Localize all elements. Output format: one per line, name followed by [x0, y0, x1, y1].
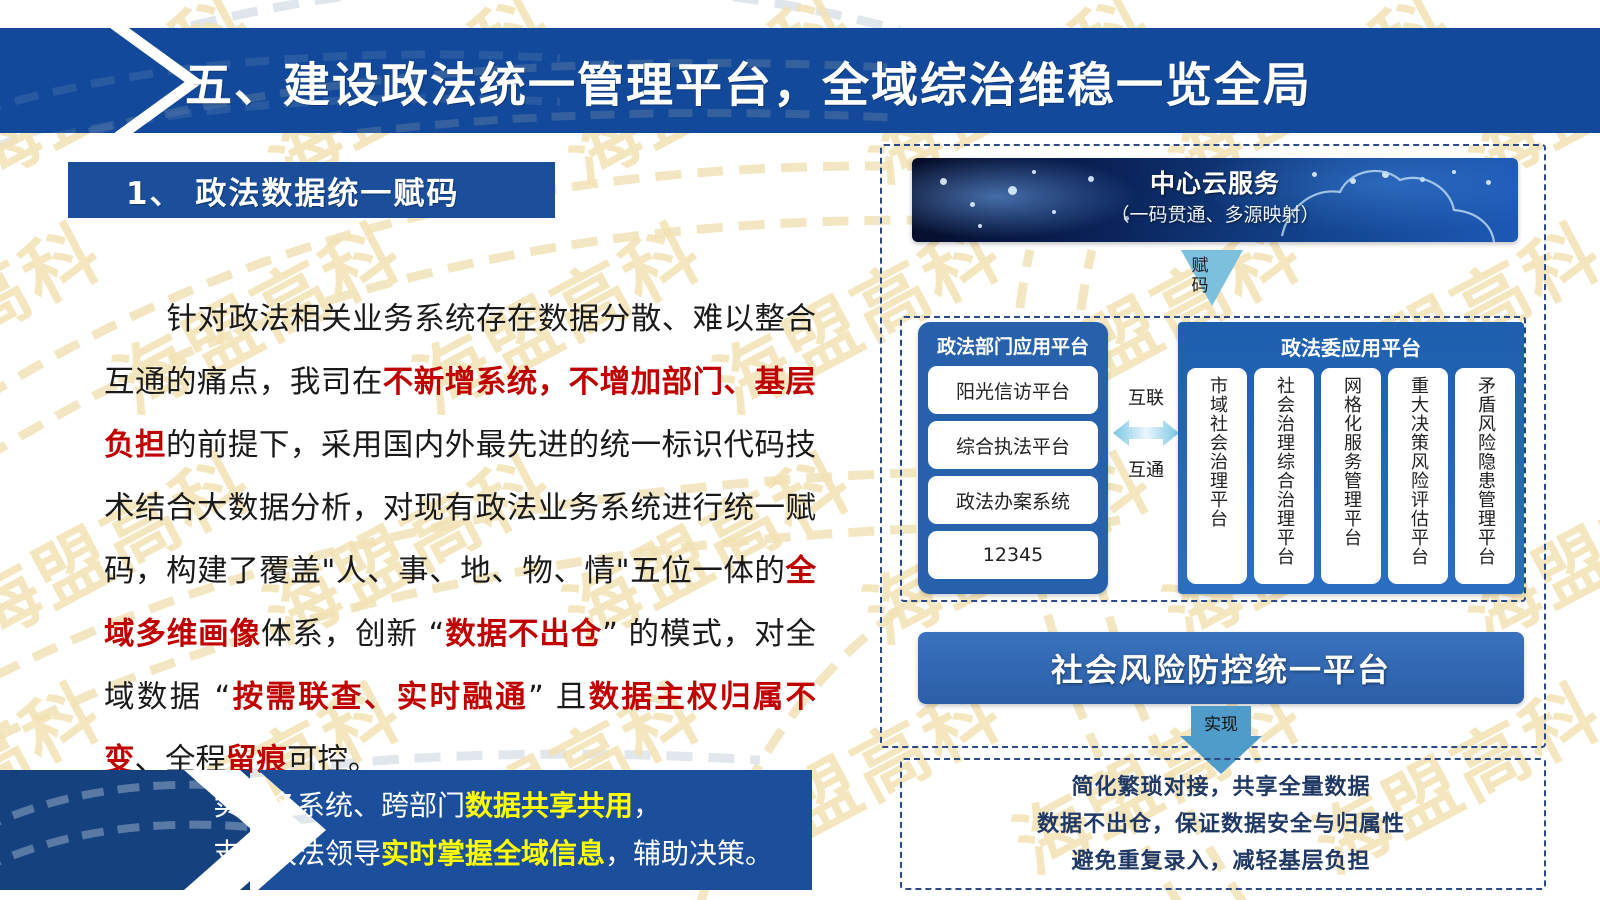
interlink-label-top: 互联 — [1112, 384, 1180, 410]
conclusion-line1-highlight: 数据共享共用 — [465, 789, 633, 822]
wei-platform-column-label: 网格化服务管理平台 — [1338, 376, 1364, 547]
wei-platform-column-label: 矛盾风险隐患管理平台 — [1472, 376, 1498, 566]
dept-platform-item[interactable]: 综合执法平台 — [928, 421, 1098, 469]
paragraph-segment: ” 且 — [528, 680, 589, 715]
arrow-label-shixian: 实现 — [1180, 710, 1262, 735]
paragraph-text: 针对政法相关业务系统存在数据分散、难以整合互通的痛点，我司在不新增系统，不增加部… — [104, 302, 816, 778]
wei-platform-column-label: 市域社会治理平台 — [1204, 376, 1230, 528]
conclusion-line1-prefix: 实现多系统、跨部门 — [213, 789, 465, 822]
paragraph-segment: 的前提下，采用国内外最先进的统一标识代码技术结合大数据分析，对现有政法业务系统进… — [104, 428, 816, 589]
paragraph-segment: 体系，创新 “ — [261, 617, 444, 652]
benefits-list: 简化繁琐对接，共享全量数据数据不出仓，保证数据安全与归属性避免重复录入，减轻基层… — [900, 766, 1542, 882]
dept-panel-list: 阳光信访平台综合执法平台政法办案系统12345 — [928, 366, 1098, 586]
wei-platform-column-label: 社会治理综合治理平台 — [1271, 376, 1297, 566]
wei-panel-title: 政法委应用平台 — [1178, 332, 1524, 361]
conclusion-text: 实现多系统、跨部门数据共享共用， 支撑政法领导实时掌握全域信息，辅助决策。 — [213, 782, 773, 878]
dept-panel-title: 政法部门应用平台 — [918, 332, 1108, 359]
dept-platform-item[interactable]: 12345 — [928, 531, 1098, 579]
wei-platform-column[interactable]: 网格化服务管理平台 — [1321, 368, 1381, 584]
paragraph-segment: 按需联查、实时融通 — [230, 680, 528, 715]
benefit-line: 数据不出仓，保证数据安全与归属性 — [1037, 806, 1405, 843]
wei-platform-column[interactable]: 重大决策风险评估平台 — [1388, 368, 1448, 584]
conclusion-banner: 实现多系统、跨部门数据共享共用， 支撑政法领导实时掌握全域信息，辅助决策。 — [0, 770, 812, 890]
unified-risk-platform-label: 社会风险防控统一平台 — [1051, 645, 1391, 691]
watermark-text: 海盟高科 — [0, 193, 119, 434]
wei-application-panel: 政法委应用平台 市域社会治理平台社会治理综合治理平台网格化服务管理平台重大决策风… — [1178, 322, 1524, 594]
conclusion-line2-prefix: 支撑政法领导 — [213, 837, 381, 870]
page-title: 五、建设政法统一管理平台，全域综治维稳一览全局 — [185, 46, 1312, 115]
page-header: 五、建设政法统一管理平台，全域综治维稳一览全局 — [0, 28, 1600, 133]
architecture-diagram: 中心云服务 （一码贯通、多源映射） 赋码 政法部门应用平台 阳光信访平台综合执法… — [880, 144, 1560, 896]
wei-panel-columns: 市域社会治理平台社会治理综合治理平台网格化服务管理平台重大决策风险评估平台矛盾风… — [1187, 368, 1515, 584]
arrow-label-fuma-text: 赋码 — [1188, 256, 1212, 296]
center-cloud-service-banner: 中心云服务 （一码贯通、多源映射） — [912, 158, 1518, 242]
watermark-text: 海盟高科 — [1593, 193, 1600, 434]
arrow-label-fuma: 赋码 — [1188, 256, 1212, 296]
paragraph-segment: 数据不出仓 — [444, 617, 602, 652]
body-paragraph: 针对政法相关业务系统存在数据分散、难以整合互通的痛点，我司在不新增系统，不增加部… — [104, 288, 816, 792]
conclusion-line2-highlight: 实时掌握全域信息 — [381, 837, 605, 870]
cloud-service-title: 中心云服务 — [912, 164, 1518, 200]
wei-platform-column[interactable]: 社会治理综合治理平台 — [1254, 368, 1314, 584]
interlink-block: 互联 互通 — [1112, 384, 1180, 514]
interlink-label-bottom: 互通 — [1112, 456, 1180, 482]
wei-platform-column-label: 重大决策风险评估平台 — [1405, 376, 1431, 566]
wei-platform-column[interactable]: 矛盾风险隐患管理平台 — [1455, 368, 1515, 584]
benefit-line: 避免重复录入，减轻基层负担 — [1071, 843, 1370, 880]
conclusion-line-1: 实现多系统、跨部门数据共享共用， — [213, 782, 773, 830]
cloud-service-subtitle: （一码贯通、多源映射） — [912, 200, 1518, 227]
conclusion-line1-suffix: ， — [633, 789, 661, 822]
dept-platform-item[interactable]: 阳光信访平台 — [928, 366, 1098, 414]
section-tag-label: 1、 政法数据统一赋码 — [126, 168, 459, 213]
section-tag: 1、 政法数据统一赋码 — [68, 162, 555, 218]
double-arrow-icon — [1112, 410, 1180, 456]
watermark-text: 海盟高科 — [1593, 653, 1600, 894]
dept-platform-item[interactable]: 政法办案系统 — [928, 476, 1098, 524]
dept-application-panel: 政法部门应用平台 阳光信访平台综合执法平台政法办案系统12345 — [918, 322, 1108, 594]
unified-risk-platform-bar: 社会风险防控统一平台 — [918, 632, 1524, 704]
benefit-line: 简化繁琐对接，共享全量数据 — [1071, 769, 1370, 806]
wei-platform-column[interactable]: 市域社会治理平台 — [1187, 368, 1247, 584]
conclusion-line2-suffix: ，辅助决策。 — [605, 837, 773, 870]
conclusion-line-2: 支撑政法领导实时掌握全域信息，辅助决策。 — [213, 830, 773, 878]
